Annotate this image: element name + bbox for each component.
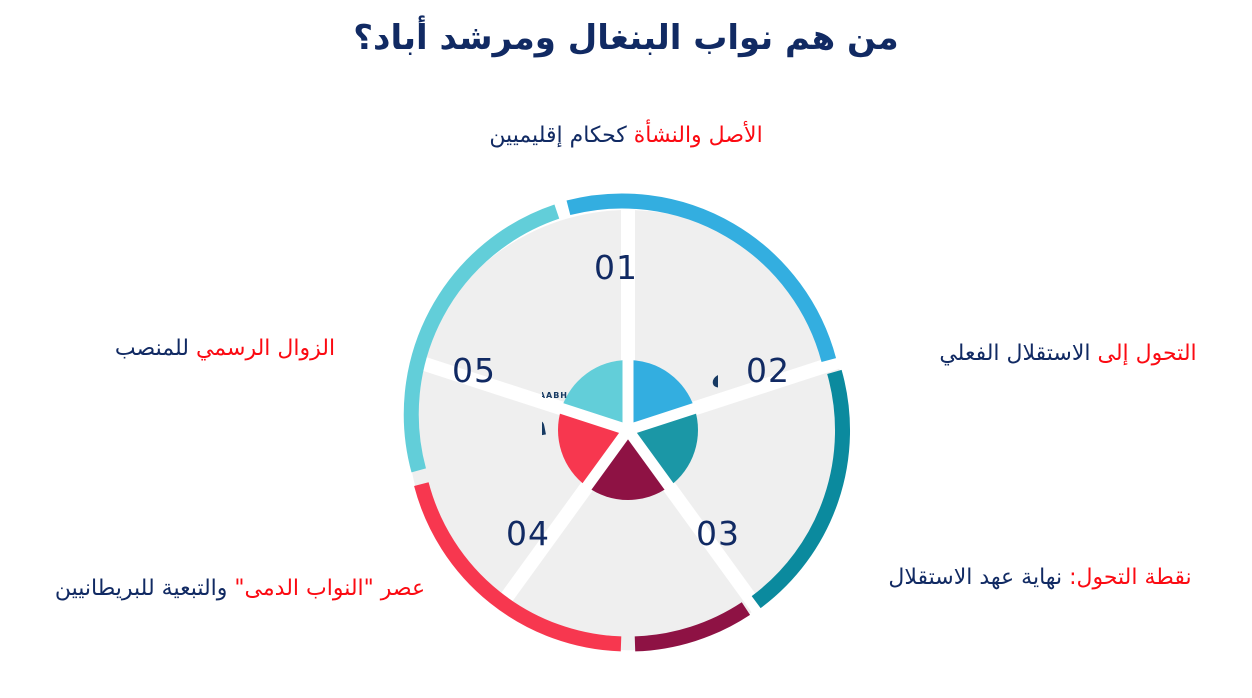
callout-label-05: الزوال الرسمي للمنصب [30, 333, 420, 364]
callout-01-highlight: الأصل والنشأة [634, 123, 763, 148]
callout-01-rest: كحكام إقليميين [489, 123, 633, 148]
callout-04-highlight: عصر "النواب الدمى" [234, 576, 425, 601]
slice-number-02: 02 [746, 351, 790, 390]
callout-02-highlight: التحول إلى [1097, 341, 1196, 366]
callout-label-03: نقطة التحول: نهاية عهد الاستقلال [838, 562, 1242, 593]
callout-05-rest: للمنصب [115, 336, 196, 361]
callout-05-highlight: الزوال الرسمي [196, 336, 335, 361]
callout-label-02: التحول إلى الاستقلال الفعلي [896, 338, 1240, 369]
callout-04-rest: والتبعية للبريطانيين [55, 576, 235, 601]
callout-02-rest: الاستقلال الفعلي [939, 341, 1097, 366]
slice-number-04: 04 [506, 514, 550, 553]
page-title: من هم نواب البنغال ومرشد أباد؟ [0, 18, 1252, 58]
slice-number-01: 01 [594, 248, 638, 287]
callout-label-01: الأصل والنشأة كحكام إقليميين [326, 120, 926, 151]
callout-03-highlight: نقطة التحول: [1069, 565, 1192, 590]
slice-number-03: 03 [696, 514, 740, 553]
callout-label-04: عصر "النواب الدمى" والتبعية للبريطانيين [26, 573, 454, 604]
callout-03-rest: نهاية عهد الاستقلال [888, 565, 1069, 590]
slice-number-05: 05 [452, 351, 496, 390]
